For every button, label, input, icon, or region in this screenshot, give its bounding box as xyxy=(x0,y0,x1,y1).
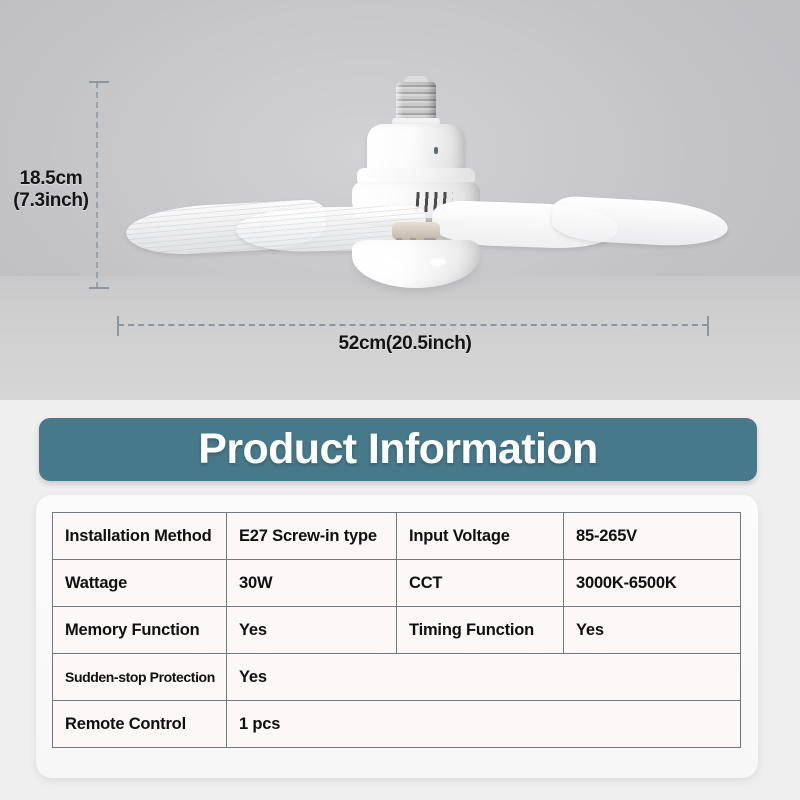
spec-label-cell: Input Voltage xyxy=(397,513,564,560)
spec-label-cell: CCT xyxy=(397,560,564,607)
height-dimension-label: 18.5cm (7.3inch) xyxy=(6,168,96,212)
dimension-end-cap xyxy=(707,316,709,336)
spec-value-cell: E27 Screw-in type xyxy=(227,513,397,560)
specification-table: Installation MethodE27 Screw-in typeInpu… xyxy=(52,512,741,748)
page-title: Product Information xyxy=(198,425,597,474)
spec-value-cell: 85-265V xyxy=(564,513,741,560)
dimension-end-cap xyxy=(89,287,109,289)
height-value-inch: (7.3inch) xyxy=(6,190,96,212)
spec-value-cell: Yes xyxy=(564,607,741,654)
table-row: Wattage30WCCT3000K-6500K xyxy=(53,560,741,607)
width-dimension-label: 52cm(20.5inch) xyxy=(280,333,530,355)
spec-value-cell: Yes xyxy=(227,607,397,654)
spec-label-cell: Memory Function xyxy=(53,607,227,654)
specification-table-body: Installation MethodE27 Screw-in typeInpu… xyxy=(53,513,741,748)
light-dome xyxy=(352,240,480,288)
dome-highlight xyxy=(430,258,446,266)
spec-value-cell: 3000K-6500K xyxy=(564,560,741,607)
spec-label-cell: Wattage xyxy=(53,560,227,607)
specification-card: Installation MethodE27 Screw-in typeInpu… xyxy=(36,495,758,778)
spec-value-cell: 30W xyxy=(227,560,397,607)
spec-value-cell: Yes xyxy=(227,654,741,701)
spec-label-cell: Installation Method xyxy=(53,513,227,560)
dimension-end-cap xyxy=(117,316,119,336)
spec-label-cell: Sudden-stop Protection xyxy=(53,654,227,701)
table-row: Memory FunctionYesTiming FunctionYes xyxy=(53,607,741,654)
dimension-end-cap xyxy=(89,81,109,83)
product-information-banner: Product Information xyxy=(39,418,757,481)
height-value-cm: 18.5cm xyxy=(6,168,96,190)
height-dimension-line xyxy=(96,82,98,288)
spec-label-cell: Timing Function xyxy=(397,607,564,654)
spec-value-cell: 1 pcs xyxy=(227,701,741,748)
indicator-dot xyxy=(434,147,438,154)
product-hero-image: 18.5cm (7.3inch) 52cm(20.5inch) xyxy=(0,0,800,400)
spec-label-cell: Remote Control xyxy=(53,701,227,748)
table-row: Installation MethodE27 Screw-in typeInpu… xyxy=(53,513,741,560)
width-dimension-line xyxy=(118,324,708,326)
table-row: Sudden-stop ProtectionYes xyxy=(53,654,741,701)
table-row: Remote Control1 pcs xyxy=(53,701,741,748)
dome-highlight xyxy=(384,258,400,266)
